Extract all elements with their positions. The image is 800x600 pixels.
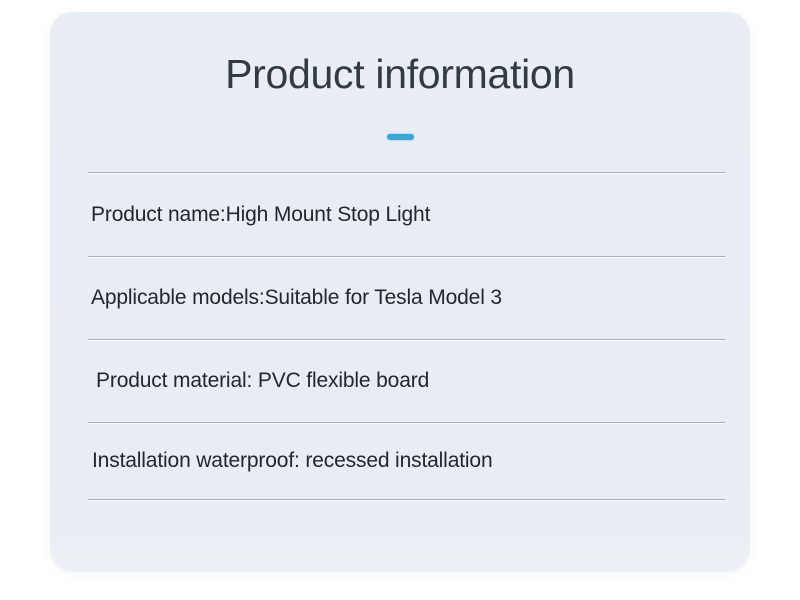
product-information-card: Product information Product name:High Mo… [50,12,750,572]
title-accent-bar [387,134,414,140]
page-title: Product information [50,12,750,96]
spec-row-product-name: Product name:High Mount Stop Light [88,173,725,256]
card-header: Product information [50,12,750,135]
spec-divider-bottom [88,499,725,500]
product-information-page: Product information Product name:High Mo… [0,0,800,600]
spec-row-applicable-models: Applicable models:Suitable for Tesla Mod… [88,257,725,339]
spec-list: Product name:High Mount Stop Light Appli… [88,172,725,500]
spec-text: Product name:High Mount Stop Light [91,203,430,227]
spec-row-installation-waterproof: Installation waterproof: recessed instal… [88,423,725,499]
spec-text: Installation waterproof: recessed instal… [92,449,493,473]
spec-text: Applicable models:Suitable for Tesla Mod… [91,286,502,310]
title-accent-wrapper [50,127,750,135]
spec-text: Product material: PVC flexible board [96,369,429,393]
spec-row-product-material: Product material: PVC flexible board [88,340,725,422]
